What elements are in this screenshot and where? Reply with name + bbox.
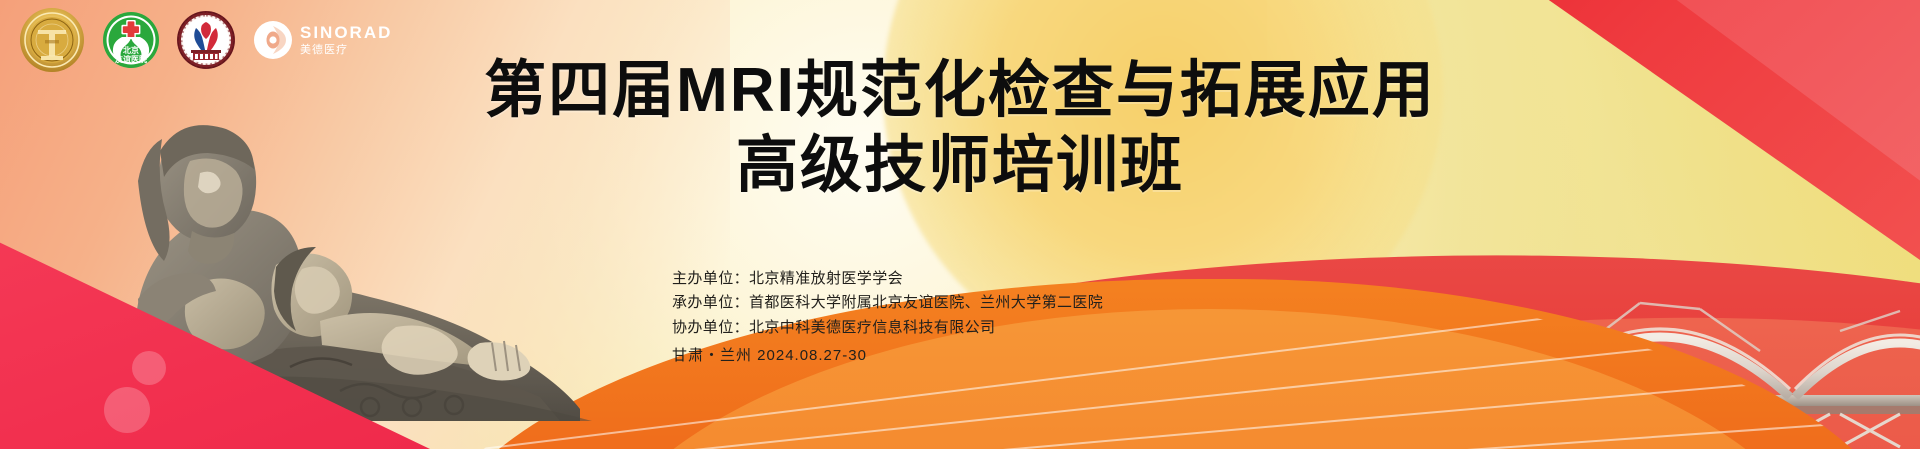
credits-block: 主办单位：北京精准放射医学学会 承办单位：首都医科大学附属北京友谊医院、兰州大学… [672,267,1103,368]
logo-row: 北京 友谊医院 [18,6,392,74]
svg-text:北京: 北京 [123,45,139,55]
credit-line-coorganizer: 协办单位：北京中科美德医疗信息科技有限公司 [672,316,1103,340]
logo-gold-medal[interactable] [18,6,86,74]
svg-text:友谊医院: 友谊医院 [114,54,147,64]
credit-line-host: 主办单位：北京精准放射医学学会 [672,267,1103,291]
green-dove-cross-icon: 北京 友谊医院 [102,11,160,69]
gold-seal-icon [18,6,86,74]
sinorad-wordmark-sub: 美德医疗 [300,45,392,56]
sinorad-eye-icon [252,19,294,61]
conference-banner: 北京 友谊医院 [0,0,1920,449]
maroon-crest-icon [176,10,236,70]
credit-line-date-location: 甘肃・兰州 2024.08.27-30 [672,344,1103,368]
logo-sinorad[interactable]: SINORAD 美德医疗 [252,19,392,61]
logo-lanzhou-second-hospital[interactable] [176,10,236,70]
credit-line-organizer: 承办单位：首都医科大学附属北京友谊医院、兰州大学第二医院 [672,291,1103,315]
sinorad-wordmark: SINORAD [300,24,392,41]
logo-friendship-hospital[interactable]: 北京 友谊医院 [102,11,160,69]
